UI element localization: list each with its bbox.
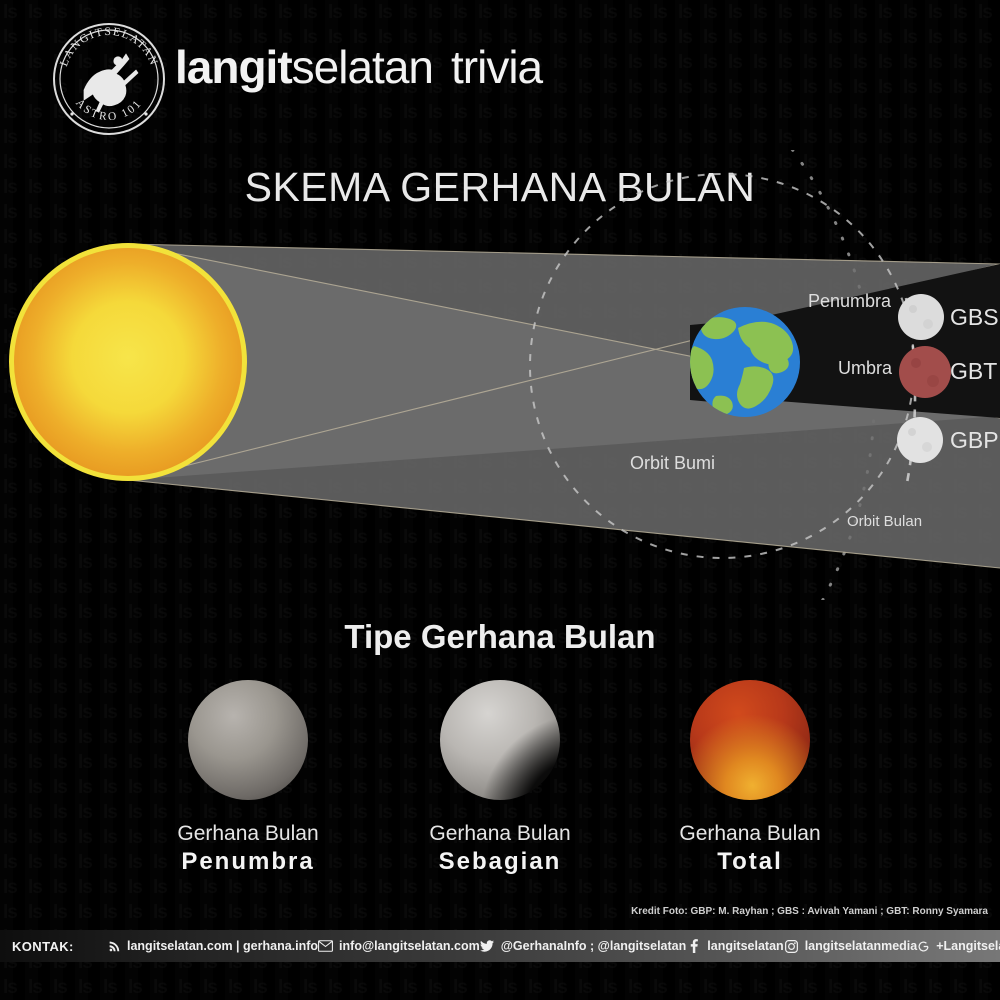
footer-item-instagram[interactable]: langitselatanmedia: [784, 939, 918, 954]
wordmark-suffix: trivia: [451, 41, 542, 93]
footer-item-label: +LangitselatanMedia: [936, 939, 1000, 953]
moon-photo-total: [690, 680, 810, 800]
moon-tag-gbt: GBT: [950, 358, 997, 385]
langitselatan-seal-logo: LANGITSELATAN ASTRO 101: [48, 18, 170, 140]
eclipse-schema-diagram: Penumbra Umbra Orbit Bumi Orbit Bulan GB…: [0, 150, 1000, 600]
footer-item-label: info@langitselatan.com: [339, 939, 480, 953]
footer-item-googleplus[interactable]: +LangitselatanMedia: [917, 939, 1000, 954]
types-section-title: Tipe Gerhana Bulan: [0, 618, 1000, 656]
photo-credit: Kredit Foto: GBP: M. Rayhan ; GBS : Aviv…: [631, 906, 988, 917]
type-caption-top: Gerhana Bulan: [620, 822, 880, 846]
type-caption-bottom: Penumbra: [118, 848, 378, 876]
infographic-page: lslslslslslslslslslslslslslslslslslslsls…: [0, 0, 1000, 1000]
wordmark: langitselatantrivia: [175, 40, 542, 94]
footer-item-label: langitselatan: [707, 939, 783, 953]
wordmark-bold: langit: [175, 41, 292, 93]
type-caption-top: Gerhana Bulan: [370, 822, 630, 846]
moon-tag-gbp: GBP: [950, 427, 999, 454]
moon-photo-penumbral: [188, 680, 308, 800]
label-umbra: Umbra: [838, 358, 892, 379]
type-caption-bottom: Total: [620, 848, 880, 876]
type-caption-top: Gerhana Bulan: [118, 822, 378, 846]
moon-gbt: [899, 346, 951, 398]
wordmark-light: selatan: [292, 41, 433, 93]
type-caption-bottom: Sebagian: [370, 848, 630, 876]
header: LANGITSELATAN ASTRO 101 langitselatantri…: [0, 0, 1000, 140]
type-card-penumbra: Gerhana Bulan Penumbra: [118, 680, 378, 876]
footer-item-label: langitselatanmedia: [805, 939, 918, 953]
footer-kontak-label: KONTAK:: [0, 939, 98, 954]
svg-text:LANGITSELATAN: LANGITSELATAN: [58, 26, 160, 68]
footer-item-twitter[interactable]: @GerhanaInfo ; @langitselatan: [480, 939, 687, 954]
footer-item-email[interactable]: info@langitselatan.com: [318, 939, 480, 954]
moon-gbp: [897, 417, 943, 463]
googleplus-icon: [917, 939, 930, 954]
moon-photo-partial: [440, 680, 560, 800]
rss-icon: [106, 939, 121, 954]
footer-item-facebook[interactable]: langitselatan: [686, 939, 783, 954]
envelope-icon: [318, 939, 333, 954]
label-orbit-bulan: Orbit Bulan: [847, 513, 922, 530]
label-penumbra: Penumbra: [808, 291, 891, 312]
sun-body: [14, 248, 242, 476]
instagram-icon: [784, 939, 799, 954]
contact-footer-bar: KONTAK: langitselatan.com | gerhana.info…: [0, 930, 1000, 962]
twitter-icon: [480, 939, 495, 954]
footer-item-label: @GerhanaInfo ; @langitselatan: [501, 939, 687, 953]
moon-tag-gbs: GBS: [950, 304, 999, 331]
footer-item-website[interactable]: langitselatan.com | gerhana.info: [106, 939, 318, 954]
facebook-icon: [686, 939, 701, 954]
type-card-total: Gerhana Bulan Total: [620, 680, 880, 876]
footer-item-label: langitselatan.com | gerhana.info: [127, 939, 318, 953]
type-card-sebagian: Gerhana Bulan Sebagian: [370, 680, 630, 876]
label-orbit-bumi: Orbit Bumi: [630, 453, 715, 474]
